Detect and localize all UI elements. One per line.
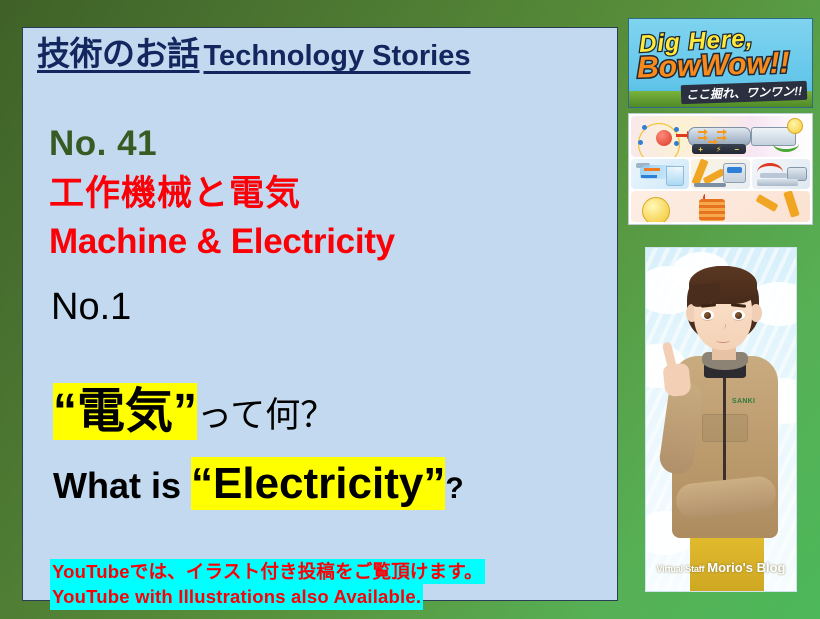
current-arrow-icon (698, 137, 705, 139)
collage-water-analogy (631, 159, 689, 190)
issue-title-english: Machine & Electricity (49, 224, 395, 259)
shaft-icon (760, 173, 787, 178)
character-pupil (735, 312, 742, 319)
cnc-control-panel-icon (723, 163, 746, 182)
heater-coil-icon (699, 199, 725, 221)
character-caption-name: Morio's Blog (707, 560, 785, 575)
battery-minus-label: − (734, 145, 739, 154)
battery-plus-label: + (698, 145, 703, 154)
page-header: 技術のお話Technology Stories (37, 37, 470, 71)
cnc-screen-icon (727, 167, 742, 173)
question-english-highlight: “Electricity” (191, 457, 445, 510)
question-japanese-highlight: “電気” (53, 383, 197, 440)
current-arrow-icon (717, 137, 724, 139)
current-arrow-icon (717, 131, 724, 133)
header-title-english: Technology Stories (204, 40, 471, 72)
issue-title-japanese: 工作機械と電気 (49, 176, 301, 211)
issue-number: No. 41 (49, 126, 157, 161)
character-caption-role: Virtual Staff (657, 564, 705, 574)
character-jacket-logo: SANKI (732, 398, 755, 405)
question-english-tail: ? (445, 472, 463, 505)
character-caption: Virtual StaffMorio's Blog (646, 559, 796, 577)
character-hand (662, 363, 691, 398)
robot-arm-segment-icon (755, 194, 778, 212)
section-number: No.1 (51, 288, 131, 326)
collage-atom-electron-flow: + ⚡ − (631, 116, 810, 157)
battery-bolt-icon: ⚡ (716, 145, 722, 154)
character-mouth (716, 338, 730, 343)
dig-here-bowwow-logo: Dig Here, BowWow!! ここ掘れ、ワンワン!! (628, 18, 813, 108)
electron-dot-icon (642, 125, 647, 130)
current-arrow-icon (708, 141, 715, 143)
collage-cnc-machine (691, 159, 749, 190)
light-bulb-icon (642, 197, 670, 222)
question-japanese: “電気”って何？ (53, 388, 335, 436)
collage-bulb-heater-robot (631, 191, 810, 222)
collage-motor-actuator (752, 159, 810, 190)
youtube-note: YouTubeでは、イラスト付き投稿をご覧頂けます。 YouTube with … (50, 559, 485, 610)
battery-icon: + ⚡ − (692, 144, 746, 154)
water-glass-icon (666, 166, 684, 186)
electron-dot-icon (674, 127, 679, 132)
character-eye (701, 310, 714, 321)
logo-text-line2: BowWow!! (636, 46, 790, 85)
youtube-note-line-japanese: YouTubeでは、イラスト付き投稿をご覧頂けます。 (50, 559, 485, 584)
green-arrow-icon (773, 135, 799, 152)
linear-rail-icon (757, 179, 798, 186)
cnc-bed-icon (694, 183, 727, 187)
robot-arm-icon (783, 191, 800, 218)
virtual-staff-character: SANKI Virtual StaffMorio's Blog (645, 247, 797, 592)
question-english-lead: What is (53, 465, 191, 506)
main-content-card: 技術のお話Technology Stories No. 41 工作機械と電気 M… (22, 27, 618, 601)
light-bulb-icon (787, 118, 803, 134)
red-arrow-icon (676, 134, 688, 137)
question-japanese-rest: って何？ (197, 396, 335, 435)
current-arrow-icon (698, 131, 705, 133)
youtube-note-line-english: YouTube with Illustrations also Availabl… (50, 584, 423, 609)
blue-arrow-icon (641, 175, 657, 178)
orange-arrow-icon (644, 168, 660, 171)
character-eye (732, 310, 745, 321)
question-english: What is “Electricity”? (53, 462, 464, 506)
atom-nucleus-icon (656, 130, 672, 146)
character-pupil (704, 312, 711, 319)
slide-root: 技術のお話Technology Stories No. 41 工作機械と電気 M… (0, 0, 820, 619)
illustration-collage: + ⚡ − (628, 113, 813, 225)
header-title-japanese: 技術のお話 (37, 35, 200, 72)
electron-dot-icon (638, 140, 643, 145)
conductor-tube-icon (688, 127, 751, 147)
